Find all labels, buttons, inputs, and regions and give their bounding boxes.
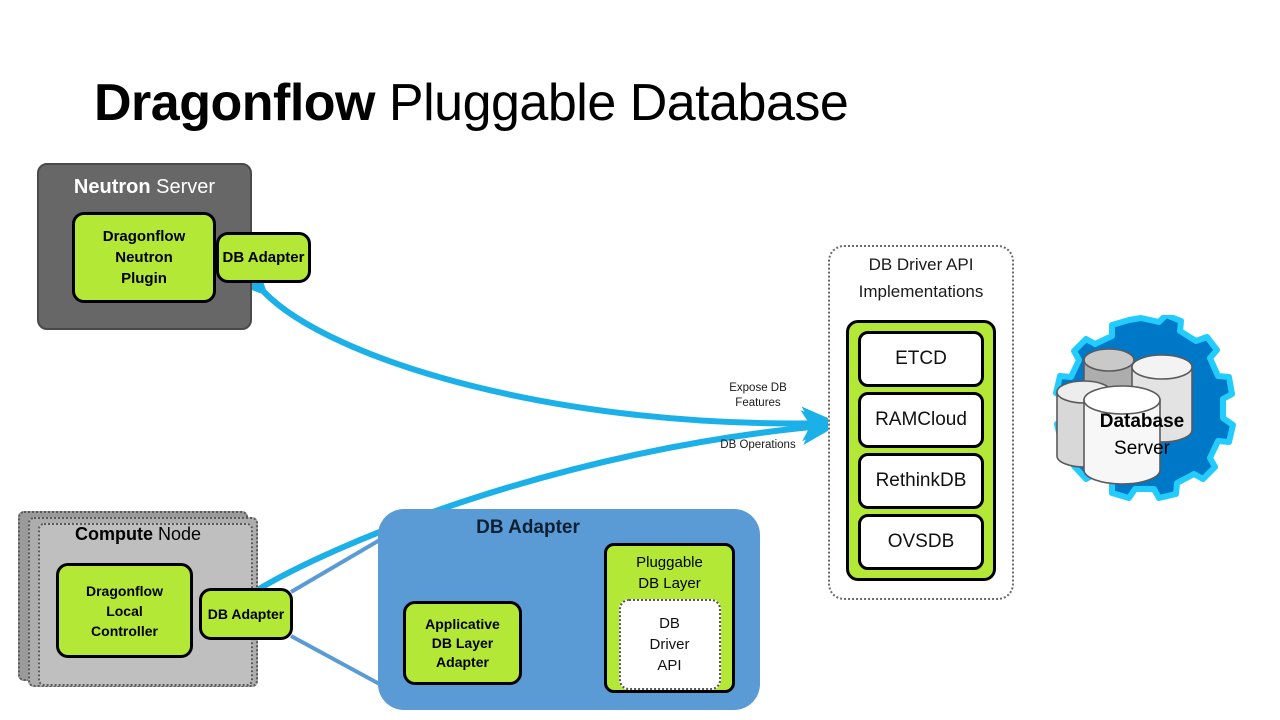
dragonflow-neutron-plugin-label: DragonflowNeutronPlugin [103,226,186,289]
db-driver-api-box[interactable]: DBDriverAPI [619,599,721,690]
driver-item-etcd-label: ETCD [895,348,947,370]
database-server-graphic [1035,315,1247,520]
neutron-db-adapter-box[interactable]: DB Adapter [216,232,311,283]
driver-item-ovsdb-label: OVSDB [888,531,955,553]
driver-item-rethinkdb-label: RethinkDB [876,470,967,492]
compute-node-title-light: Node [153,524,201,544]
driver-item-ramcloud-label: RAMCloud [875,409,967,431]
pluggable-db-layer-label: PluggableDB Layer [607,552,732,594]
applicative-db-layer-adapter-label: ApplicativeDB LayerAdapter [425,615,500,672]
neutron-db-adapter-label: DB Adapter [223,249,305,266]
db-driver-implementations-group: ETCD RAMCloud RethinkDB OVSDB [846,320,996,581]
applicative-db-layer-adapter-box[interactable]: ApplicativeDB LayerAdapter [403,601,522,685]
dragonflow-local-controller-box[interactable]: DragonflowLocalController [56,563,193,658]
dragonflow-local-controller-label: DragonflowLocalController [86,581,163,641]
driver-item-rethinkdb[interactable]: RethinkDB [858,453,984,509]
dragonflow-neutron-plugin-box[interactable]: DragonflowNeutronPlugin [72,212,216,303]
edge-label-db-operations: DB Operations [696,438,820,453]
diagram-canvas: Dragonflow Pluggable Database [0,0,1280,720]
neutron-server-title-strong: Neutron [74,176,151,198]
compute-node-title-strong: Compute [75,524,153,544]
edge-label-expose-db-features: Expose DBFeatures [700,381,816,411]
compute-node-title: Compute Node [38,524,238,545]
page-title-light: Pluggable Database [375,74,848,132]
db-driver-api-implementations-title: DB Driver APIImplementations [828,251,1014,305]
compute-db-adapter-label: DB Adapter [208,606,285,622]
driver-item-etcd[interactable]: ETCD [858,331,984,387]
driver-item-ovsdb[interactable]: OVSDB [858,514,984,570]
neutron-server-title-light: Server [151,176,215,198]
compute-db-adapter-box[interactable]: DB Adapter [199,588,293,640]
driver-item-ramcloud[interactable]: RAMCloud [858,392,984,448]
neutron-server-title: Neutron Server [37,176,252,199]
pluggable-db-layer-box[interactable]: PluggableDB Layer DBDriverAPI [604,543,735,693]
db-adapter-detail-title: DB Adapter [378,517,678,539]
page-title: Dragonflow Pluggable Database [94,70,848,136]
db-driver-api-label: DBDriverAPI [650,613,690,676]
page-title-strong: Dragonflow [94,74,375,132]
